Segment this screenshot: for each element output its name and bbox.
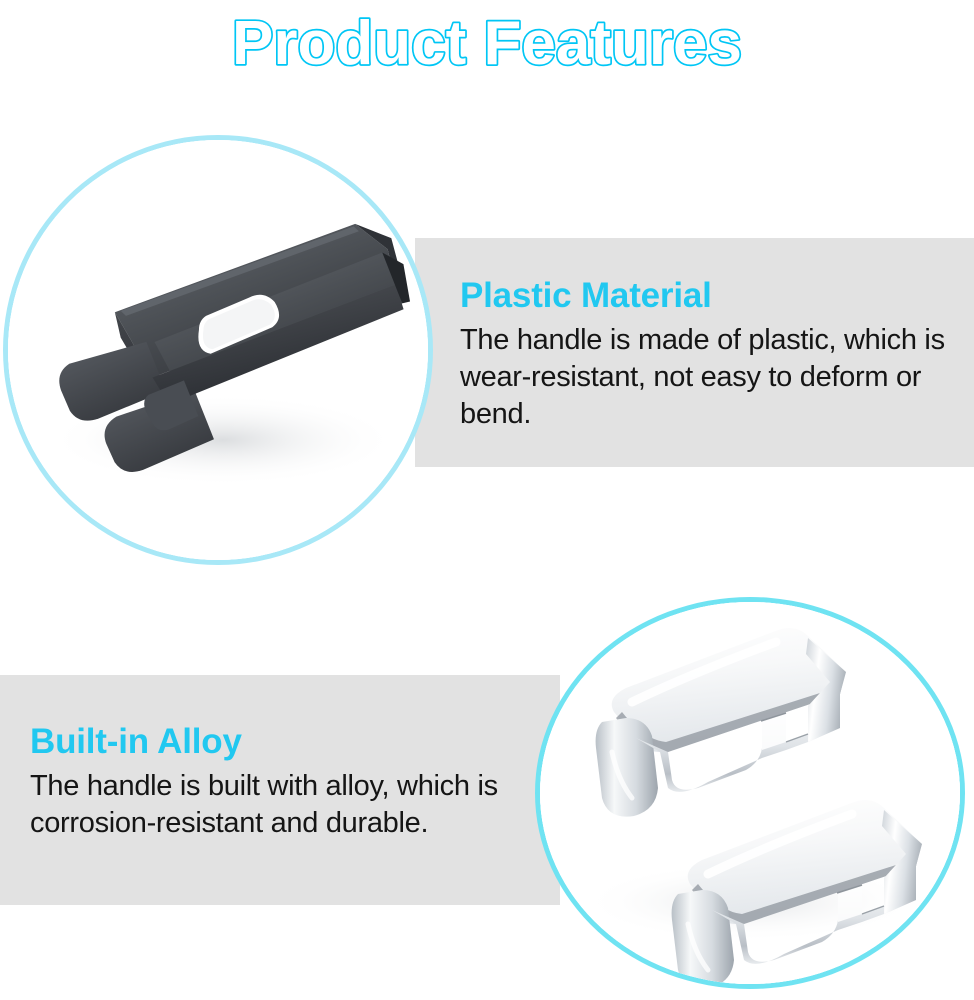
alloy-covers-illustration xyxy=(540,602,960,984)
page-title-graphic: Product Features xyxy=(137,8,837,82)
feature-heading-built-in-alloy: Built-in Alloy xyxy=(30,722,540,762)
plastic-wiper-handle-image xyxy=(8,140,428,560)
feature-body-plastic-material: The handle is made of plastic, which is … xyxy=(460,322,960,433)
feature-heading-plastic-material: Plastic Material xyxy=(460,276,960,316)
feature-text-built-in-alloy: Built-in Alloy The handle is built with … xyxy=(30,722,540,842)
feature-body-built-in-alloy: The handle is built with alloy, which is… xyxy=(30,768,540,842)
alloy-handle-covers-photo xyxy=(540,602,960,984)
product-features-infographic: Product Features xyxy=(0,0,974,1000)
plastic-wiper-handle-photo xyxy=(8,140,428,560)
page-title: Product Features xyxy=(0,4,974,86)
alloy-handle-covers-image xyxy=(540,602,960,984)
feature-text-plastic-material: Plastic Material The handle is made of p… xyxy=(460,276,960,433)
plastic-handle-illustration xyxy=(8,140,428,560)
page-title-label: Product Features xyxy=(232,9,742,78)
